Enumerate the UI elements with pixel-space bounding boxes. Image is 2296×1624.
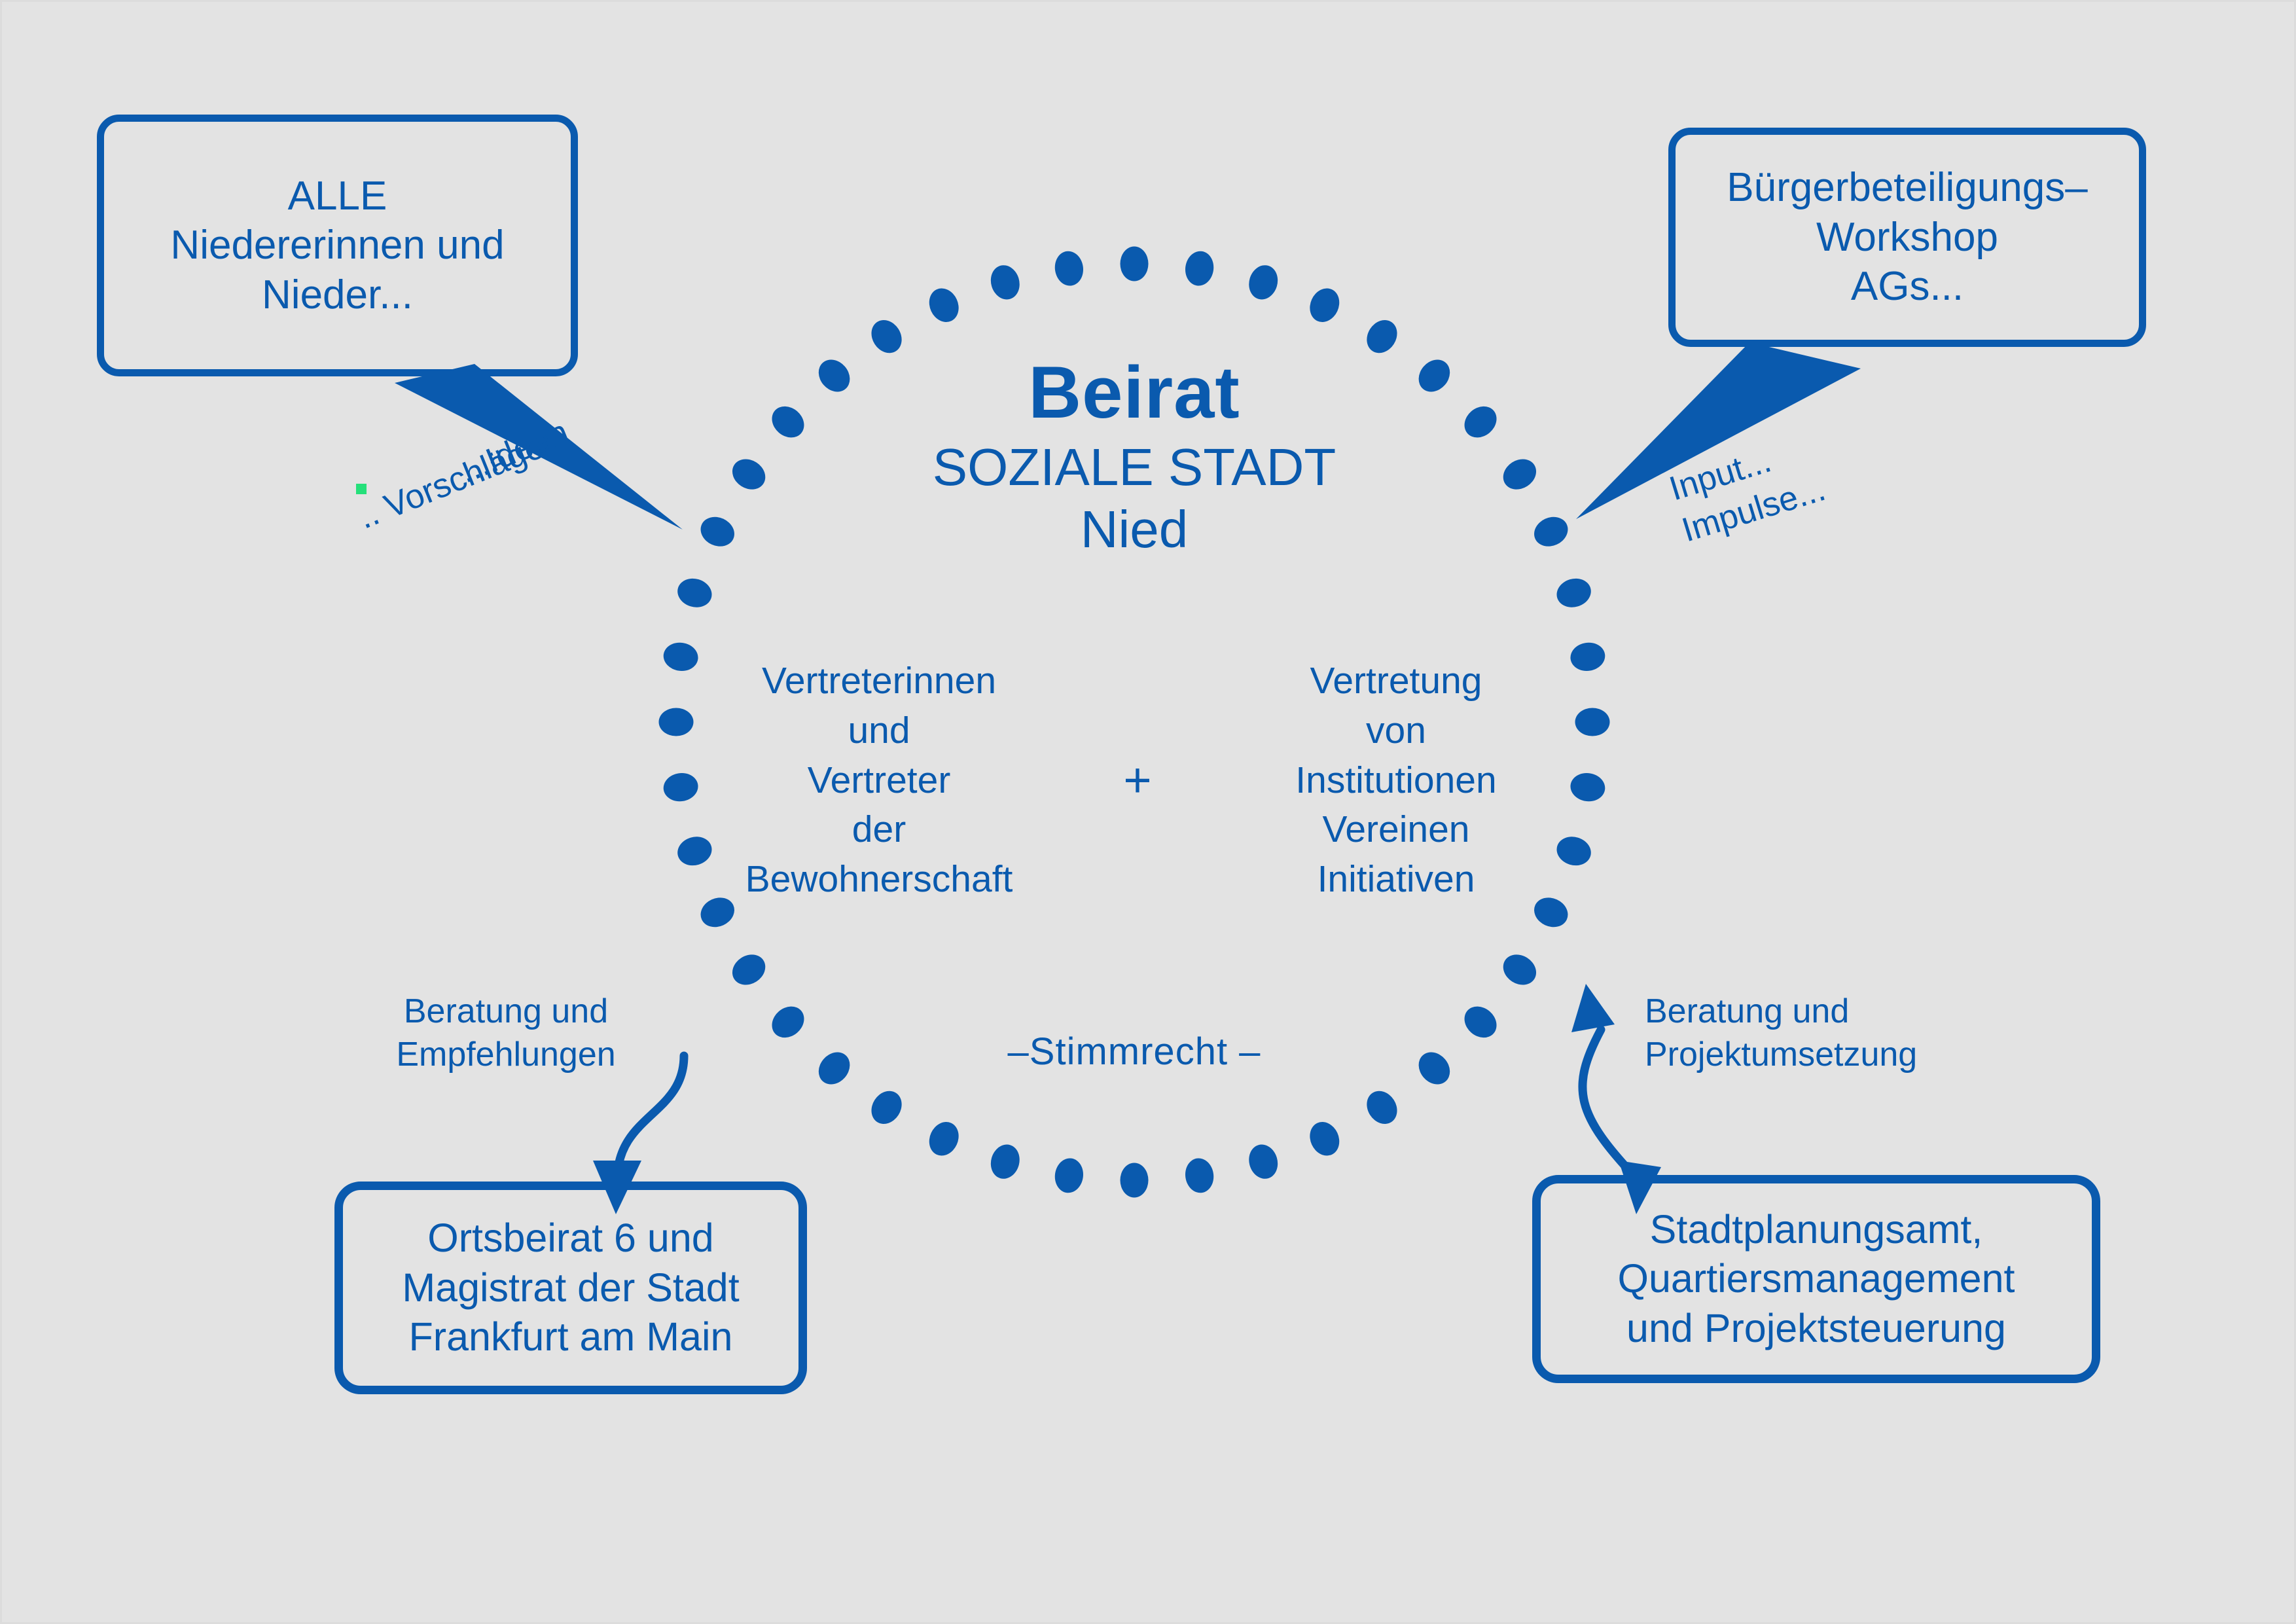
circle-dot (1183, 249, 1216, 288)
circle-dot (1553, 575, 1594, 611)
speech-bubble-buergerbeteiligung[interactable]: Bürgerbeteiligungs– Workshop AGs... (1668, 128, 2146, 347)
circle-dot (659, 708, 694, 736)
circle-dot (1304, 283, 1344, 327)
hub-stimmrecht-note: –Stimmrecht – (840, 1030, 1429, 1074)
circle-dot (1183, 1157, 1216, 1195)
circle-dot (1245, 262, 1282, 303)
speech-bubble-right-text: Bürgerbeteiligungs– Workshop AGs... (1715, 163, 2100, 312)
circle-dot (924, 1117, 964, 1161)
hub-subtitle-line2: Nied (676, 499, 1592, 560)
circle-dot (662, 640, 700, 673)
circle-dot (674, 575, 715, 611)
hub-subtitle-line1: SOZIALE STADT (676, 437, 1592, 498)
annotation-beratung-projektumsetzung: Beratung und Projektumsetzung (1645, 990, 1985, 1076)
circle-dot (1121, 1163, 1149, 1198)
circle-dot (1052, 249, 1085, 288)
hub-composition-group: Vertreterinnen und Vertreter der Bewohne… (696, 657, 1579, 905)
hub-heading-group: Beirat SOZIALE STADT Nied (676, 355, 1592, 560)
circle-dot (865, 1085, 908, 1130)
circle-dot (1121, 247, 1149, 281)
circle-dot (987, 1141, 1024, 1182)
hub-column-left: Vertreterinnen und Vertreter der Bewohne… (696, 657, 1062, 905)
hub-plus-operator: + (1108, 756, 1167, 804)
circle-dot (1498, 948, 1542, 991)
circle-dot (1052, 1157, 1085, 1195)
arrow-beratung-projektumsetzung (1583, 1030, 1638, 1180)
box-stadtplanungsamt-text: Stadtplanungsamt, Quartiersmanagement un… (1607, 1205, 2026, 1354)
circle-dot (1361, 314, 1403, 359)
circle-dot (726, 948, 771, 991)
speech-bubble-alle-niederer[interactable]: ALLE Niedererinnen und Nieder... (97, 115, 578, 376)
circle-dot (1304, 1117, 1344, 1161)
circle-dot (1361, 1085, 1403, 1130)
annotation-beratung-empfehlungen: Beratung und Empfehlungen (375, 990, 637, 1076)
circle-dot (1575, 708, 1610, 736)
green-marker-dot (356, 484, 367, 494)
box-ortsbeirat-text: Ortsbeirat 6 und Magistrat der Stadt Fra… (391, 1214, 749, 1362)
circle-dot (1458, 1000, 1503, 1044)
speech-bubble-left-text: ALLE Niedererinnen und Nieder... (158, 171, 516, 320)
arrowhead-up-right (1571, 984, 1615, 1032)
hub-title: Beirat (676, 355, 1592, 430)
box-ortsbeirat-magistrat[interactable]: Ortsbeirat 6 und Magistrat der Stadt Fra… (334, 1182, 807, 1394)
circle-dot (924, 283, 964, 327)
box-stadtplanungsamt[interactable]: Stadtplanungsamt, Quartiersmanagement un… (1532, 1175, 2100, 1383)
circle-dot (987, 262, 1024, 303)
circle-dot (1245, 1141, 1282, 1182)
diagram-canvas: ALLE Niedererinnen und Nieder... Bürgerb… (0, 0, 2296, 1624)
circle-dot (766, 1000, 810, 1044)
circle-dot (865, 314, 908, 359)
circle-dot (662, 771, 700, 804)
hub-column-right: Vertretung von Institutionen Vereinen In… (1213, 657, 1579, 905)
